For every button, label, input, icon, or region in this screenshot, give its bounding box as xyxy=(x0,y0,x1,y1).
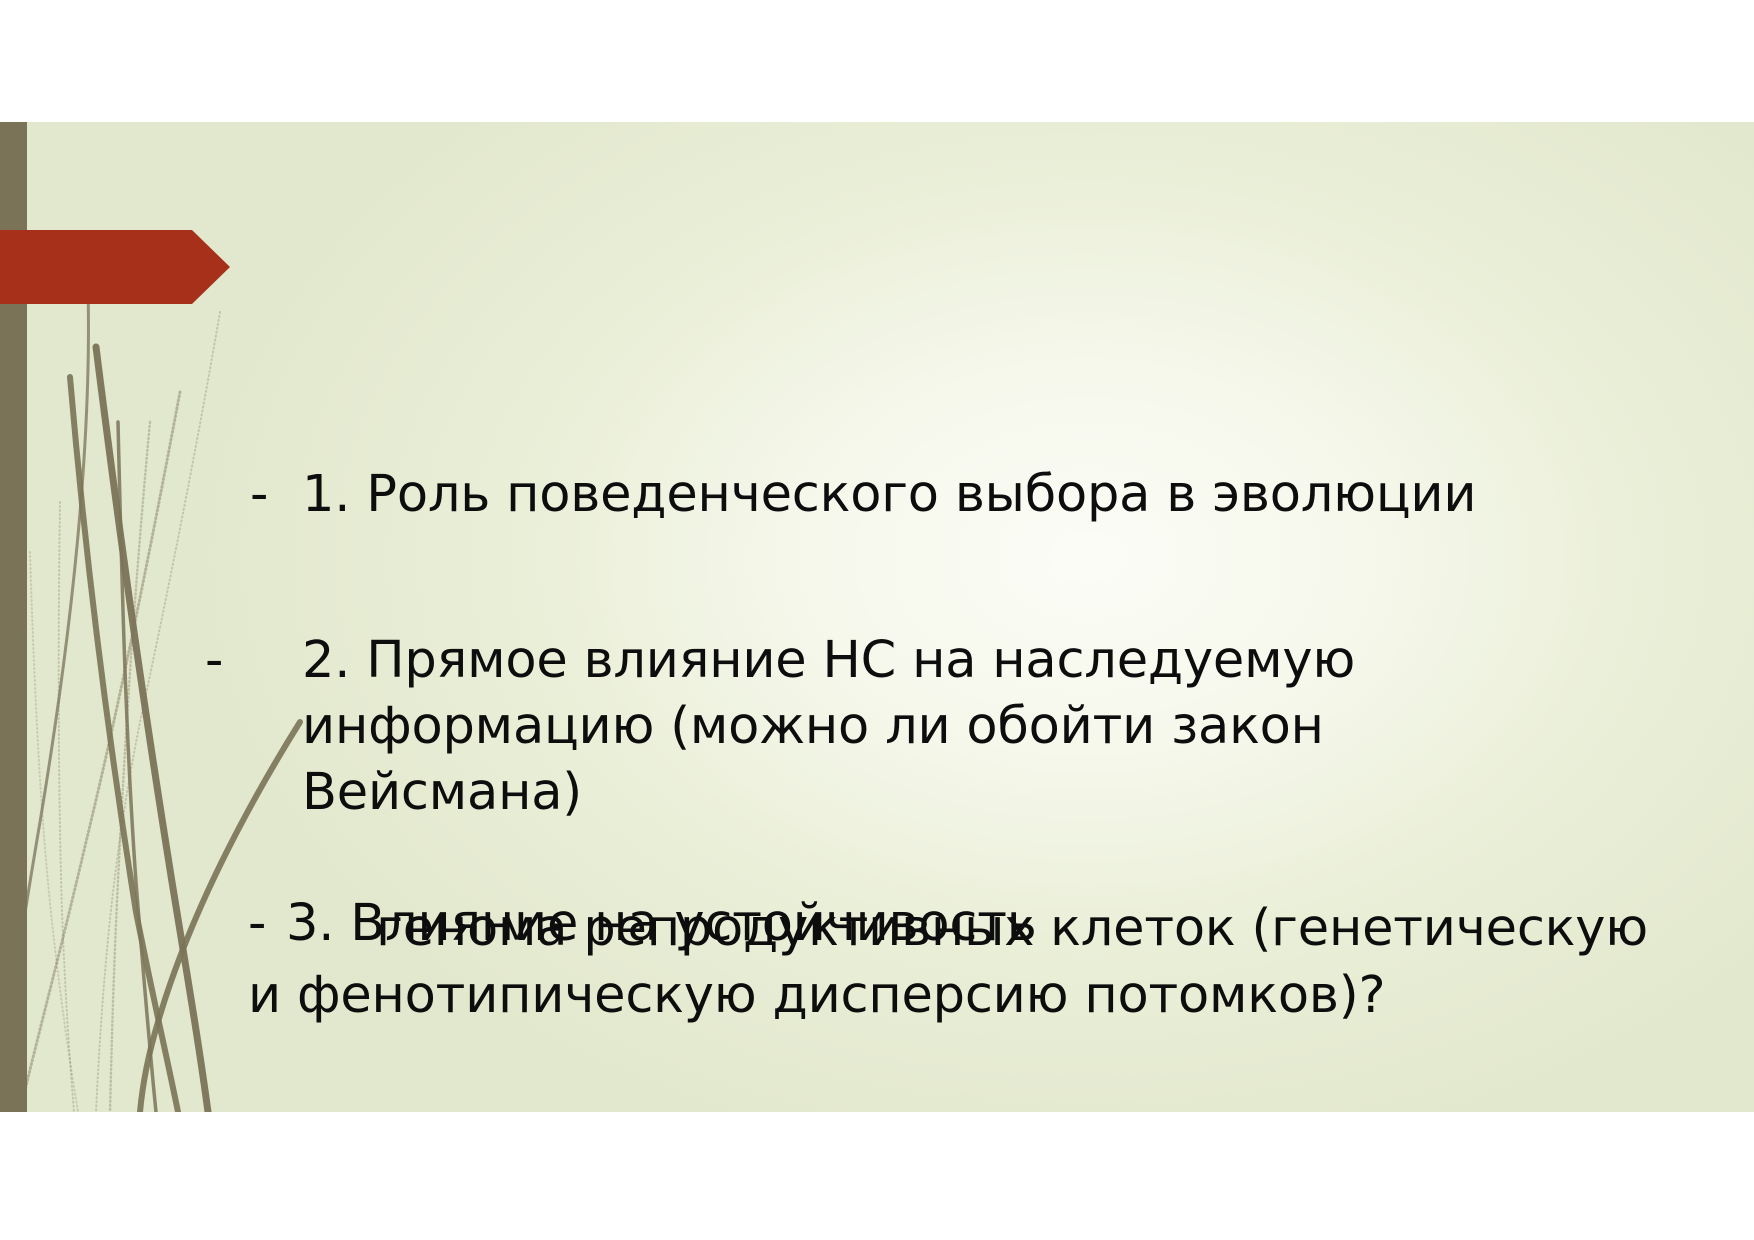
slide-canvas: - 1. Роль поведенческого выбора в эволюц… xyxy=(0,0,1754,1240)
slide-text-layer: - 1. Роль поведенческого выбора в эволюц… xyxy=(0,122,1754,1112)
slide-body: - 1. Роль поведенческого выбора в эволюц… xyxy=(0,122,1754,1112)
bullet-item-4: генома репродуктивных клеток (генетическ… xyxy=(248,830,1668,1095)
bullet-dash-2: - xyxy=(205,628,302,694)
bullet-text-4: генома репродуктивных клеток (генетическ… xyxy=(248,899,1664,1024)
